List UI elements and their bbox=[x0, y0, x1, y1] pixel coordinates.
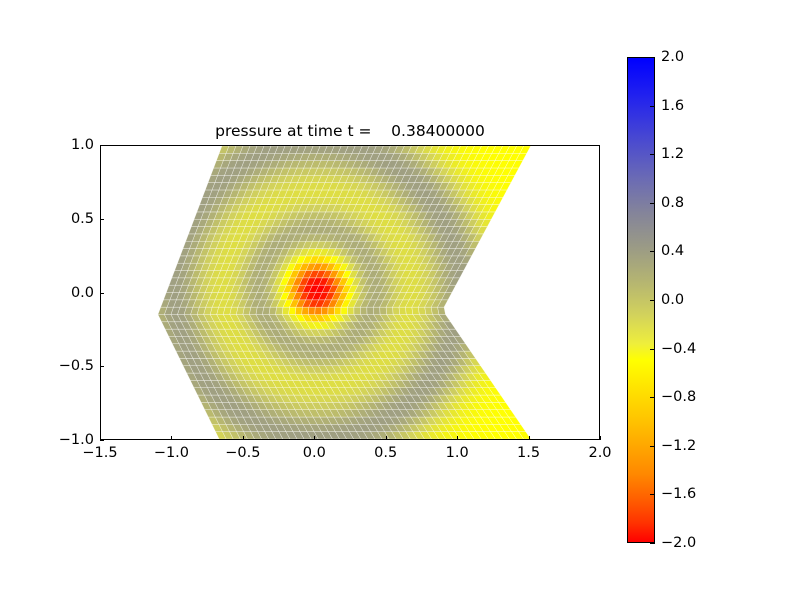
x-tick-mark bbox=[243, 436, 244, 440]
mesh-cell bbox=[302, 307, 309, 314]
x-tick-label: −1.0 bbox=[154, 445, 189, 461]
x-tick-mark bbox=[529, 436, 530, 440]
mesh-cell bbox=[276, 307, 283, 314]
y-tick-label: 1.0 bbox=[52, 137, 94, 153]
mesh-cell bbox=[393, 307, 400, 314]
mesh-cell bbox=[308, 307, 315, 314]
colorbar-tick-label: 0.8 bbox=[661, 195, 684, 211]
mesh-cell bbox=[438, 307, 446, 314]
mesh-cell bbox=[334, 307, 341, 314]
y-tick-mark bbox=[100, 145, 104, 146]
mesh-cell bbox=[405, 307, 412, 314]
mesh-cell bbox=[295, 307, 302, 314]
x-tick-label: 0.5 bbox=[374, 445, 397, 461]
colorbar-tick-mark bbox=[650, 446, 655, 447]
plot-axes bbox=[100, 145, 600, 440]
mesh-cell bbox=[289, 307, 296, 314]
x-tick-mark bbox=[600, 436, 601, 440]
x-tick-label: 0.0 bbox=[303, 445, 326, 461]
colorbar-tick-label: 0.0 bbox=[661, 292, 684, 308]
colorbar-tick-label: −1.6 bbox=[661, 486, 696, 502]
x-tick-mark bbox=[386, 436, 387, 440]
mesh-cell bbox=[373, 307, 380, 314]
mesh-cell bbox=[367, 307, 374, 314]
mesh-cell bbox=[282, 307, 289, 314]
y-tick-mark bbox=[100, 219, 104, 220]
colorbar-tick-mark bbox=[650, 203, 655, 204]
colorbar-tick-mark bbox=[650, 349, 655, 350]
x-tick-label: 2.0 bbox=[588, 445, 611, 461]
x-tick-label: 1.0 bbox=[446, 445, 469, 461]
colorbar-tick-mark bbox=[650, 543, 655, 544]
colorbar-tick-mark bbox=[650, 397, 655, 398]
mesh-cell bbox=[321, 307, 328, 314]
y-tick-label: −0.5 bbox=[52, 358, 94, 374]
colorbar-tick-label: 2.0 bbox=[661, 49, 684, 65]
y-tick-label: 0.5 bbox=[52, 211, 94, 227]
x-tick-label: 1.5 bbox=[517, 445, 540, 461]
colorbar-tick-mark bbox=[650, 106, 655, 107]
y-tick-mark bbox=[100, 366, 104, 367]
mesh-cell bbox=[354, 307, 361, 314]
mesh-cell bbox=[380, 307, 387, 314]
colorbar-tick-label: 1.6 bbox=[661, 98, 684, 114]
mesh-cell bbox=[412, 307, 419, 314]
colorbar-tick-mark bbox=[650, 251, 655, 252]
mesh-cell bbox=[386, 307, 393, 314]
y-tick-label: −1.0 bbox=[52, 432, 94, 448]
x-tick-label: −0.5 bbox=[225, 445, 260, 461]
mesh-cell bbox=[269, 307, 277, 314]
colorbar-tick-label: −0.4 bbox=[661, 341, 696, 357]
mesh-cell bbox=[360, 307, 367, 314]
colorbar-tick-label: −0.8 bbox=[661, 389, 696, 405]
colorbar-tick-label: 0.4 bbox=[661, 243, 684, 259]
x-tick-mark bbox=[457, 436, 458, 440]
colorbar-tick-label: −2.0 bbox=[661, 535, 696, 551]
mesh-cell bbox=[328, 307, 335, 314]
colorbar-tick-mark bbox=[650, 300, 655, 301]
colorbar-tick-label: 1.2 bbox=[661, 146, 684, 162]
mesh-cell bbox=[341, 307, 348, 314]
x-tick-mark bbox=[171, 436, 172, 440]
mesh-cell bbox=[347, 307, 354, 314]
plot-title: pressure at time t = 0.38400000 bbox=[100, 122, 600, 140]
mesh-cell bbox=[315, 307, 322, 314]
x-tick-mark bbox=[314, 436, 315, 440]
colorbar-tick-mark bbox=[650, 154, 655, 155]
pressure-field-mesh bbox=[101, 146, 599, 439]
mesh-clip-region bbox=[101, 146, 599, 439]
mesh-cell bbox=[399, 307, 406, 314]
colorbar-tick-label: −1.2 bbox=[661, 438, 696, 454]
figure-canvas: pressure at time t = 0.38400000 −1.5−1.0… bbox=[0, 0, 800, 600]
colorbar-tick-mark bbox=[650, 494, 655, 495]
y-tick-mark bbox=[100, 440, 104, 441]
y-tick-mark bbox=[100, 293, 104, 294]
colorbar-tick-mark bbox=[650, 57, 655, 58]
y-tick-label: 0.0 bbox=[52, 285, 94, 301]
